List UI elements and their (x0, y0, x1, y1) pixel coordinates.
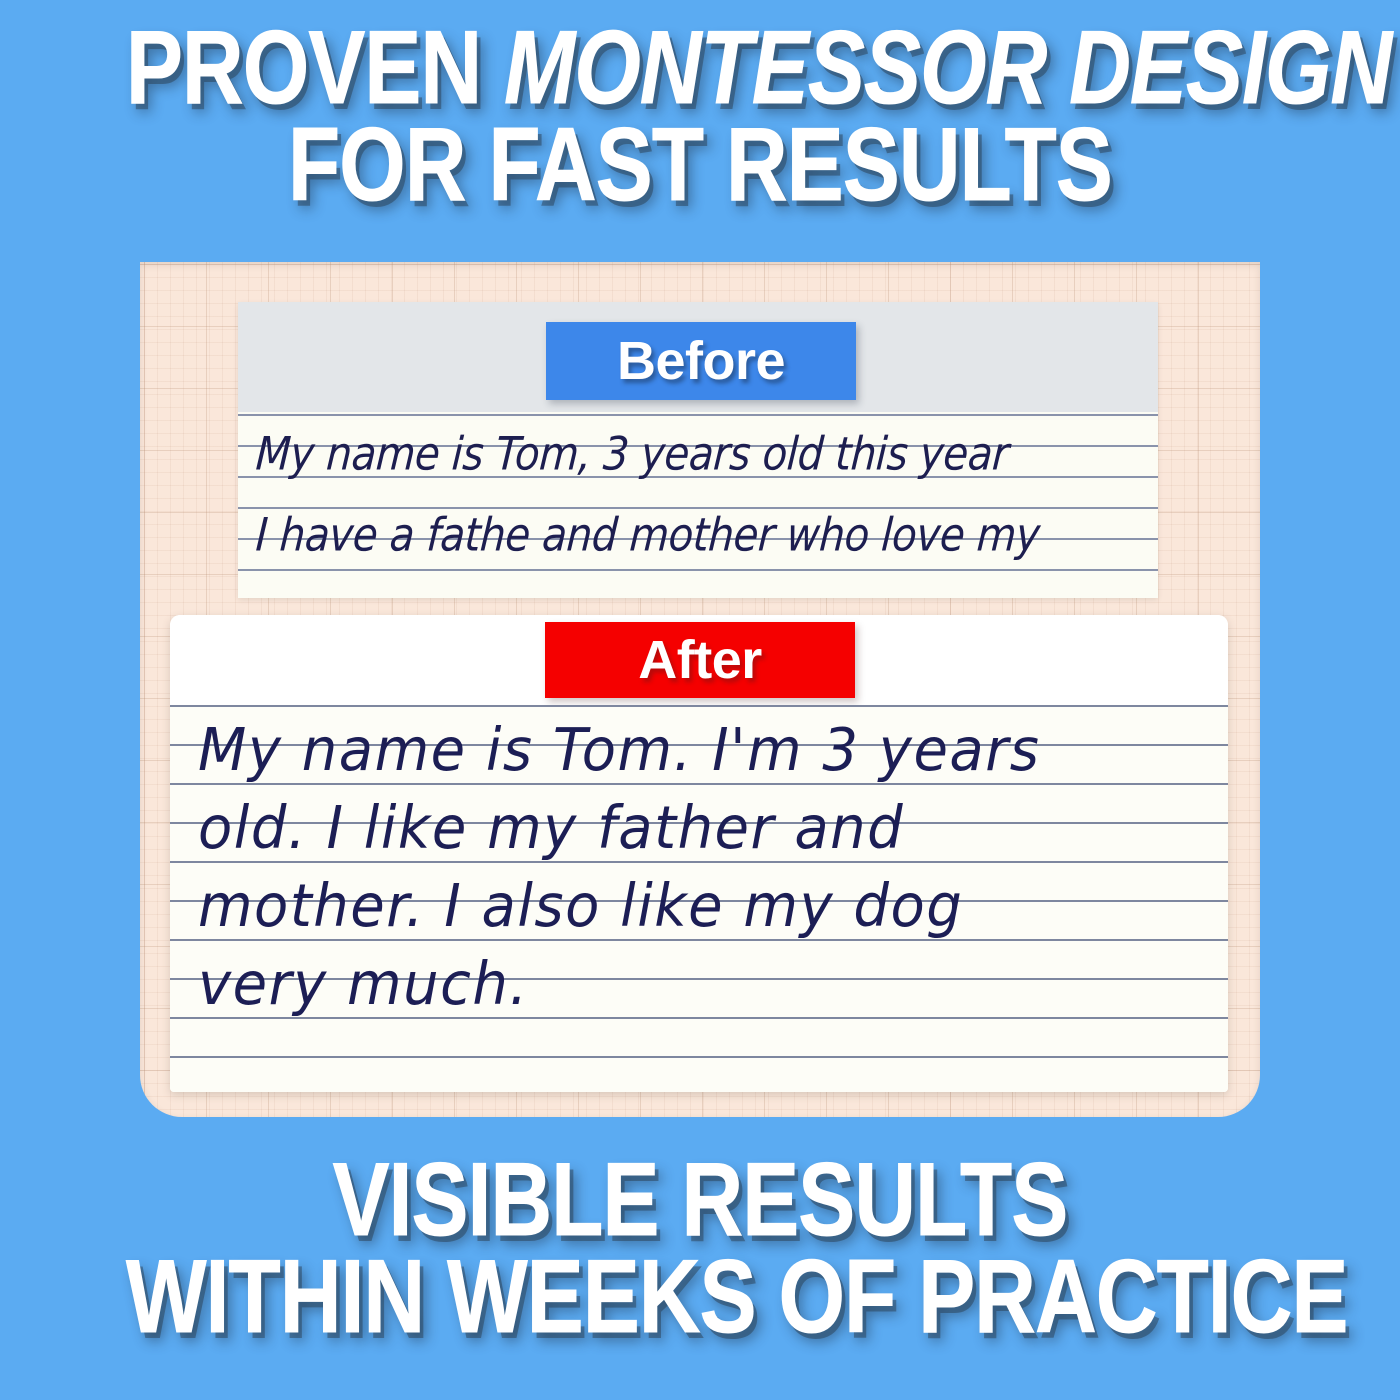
after-handwriting-line-1: My name is Tom. I'm 3 years (198, 722, 1218, 781)
after-panel: After My name is Tom. I'm 3 years old. I… (170, 615, 1228, 1092)
before-handwriting-line-1: My name is Tom, 3 years old this year (254, 427, 1138, 481)
before-handwriting-line-2: I have a fathe and mother who love my (254, 508, 1138, 562)
after-lined-paper: My name is Tom. I'm 3 years old. I like … (170, 705, 1228, 1092)
after-badge: After (545, 622, 855, 698)
headline-top-line-1: PROVEN MONTESSOR DESIGN (126, 20, 1274, 117)
page-title-bottom: VISIBLE RESULTS WITHIN WEEKS OF PRACTICE (0, 1152, 1400, 1345)
page-title-top: PROVEN MONTESSOR DESIGN FOR FAST RESULTS (0, 20, 1400, 213)
after-badge-label: After (638, 633, 762, 687)
headline-bottom-line-1: VISIBLE RESULTS (126, 1152, 1274, 1249)
headline-bottom-line-2: WITHIN WEEKS OF PRACTICE (126, 1249, 1274, 1346)
headline-top-line-2: FOR FAST RESULTS (126, 117, 1274, 214)
comparison-card: Before My name is Tom, 3 years old this … (140, 262, 1260, 1117)
before-lined-paper: My name is Tom, 3 years old this year I … (238, 412, 1158, 598)
after-handwriting-line-2: old. I like my father and (198, 800, 1218, 859)
before-badge: Before (546, 322, 856, 400)
after-handwriting-line-4: very much. (198, 956, 1218, 1015)
after-panel-header: After (170, 615, 1228, 705)
before-panel-header: Before (238, 302, 1158, 412)
before-badge-label: Before (617, 334, 785, 388)
before-panel: Before My name is Tom, 3 years old this … (238, 302, 1158, 598)
after-handwriting-line-3: mother. I also like my dog (198, 878, 1218, 937)
